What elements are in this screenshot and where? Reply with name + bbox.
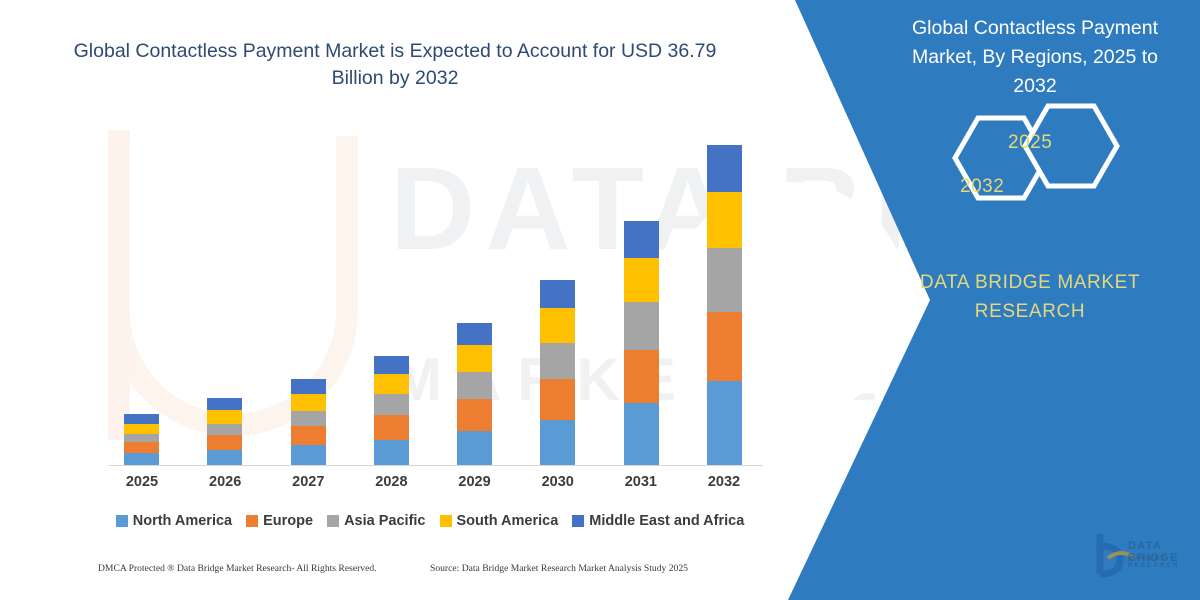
bar-2026 xyxy=(207,398,242,465)
bar-segment xyxy=(707,192,742,248)
x-axis-tick-2026: 2026 xyxy=(195,474,255,490)
footer-dmca-text: DMCA Protected ® Data Bridge Market Rese… xyxy=(98,563,377,574)
bar-segment xyxy=(374,394,409,415)
bar-segment xyxy=(374,440,409,465)
bar-segment xyxy=(624,221,659,258)
bar-segment xyxy=(540,379,575,420)
chart-legend: North AmericaEuropeAsia PacificSouth Ame… xyxy=(100,513,760,529)
bar-2032 xyxy=(707,145,742,465)
bar-segment xyxy=(374,415,409,439)
bar-segment xyxy=(291,394,326,411)
bar-segment xyxy=(540,308,575,343)
bar-segment xyxy=(291,379,326,394)
legend-item[interactable]: South America xyxy=(440,513,559,529)
legend-swatch-icon xyxy=(572,515,584,527)
bar-segment xyxy=(291,426,326,445)
x-axis-tick-2030: 2030 xyxy=(528,474,588,490)
bar-segment xyxy=(457,399,492,430)
legend-item[interactable]: Asia Pacific xyxy=(327,513,425,529)
bar-segment xyxy=(707,248,742,312)
bar-segment xyxy=(707,312,742,381)
legend-swatch-icon xyxy=(246,515,258,527)
bar-segment xyxy=(707,145,742,192)
bar-segment xyxy=(124,414,159,423)
panel-title: Global Contactless Payment Market, By Re… xyxy=(890,14,1180,101)
bar-segment xyxy=(374,374,409,394)
bar-segment xyxy=(540,280,575,308)
brand-panel: Global Contactless Payment Market, By Re… xyxy=(860,0,1200,600)
stacked-bar-series xyxy=(108,130,758,465)
legend-swatch-icon xyxy=(327,515,339,527)
bar-segment xyxy=(124,424,159,434)
hexagon-badges xyxy=(920,96,1160,221)
x-axis-tick-2029: 2029 xyxy=(445,474,505,490)
x-axis-line xyxy=(108,465,763,466)
x-axis-tick-2025: 2025 xyxy=(112,474,172,490)
bar-segment xyxy=(624,350,659,403)
legend-swatch-icon xyxy=(116,515,128,527)
legend-label: Asia Pacific xyxy=(344,513,425,529)
x-axis-labels: 20252026202720282029203020312032 xyxy=(108,474,758,490)
bar-segment xyxy=(457,345,492,371)
brand-name: DATA BRIDGE MARKET RESEARCH xyxy=(880,268,1180,326)
bar-segment xyxy=(540,420,575,465)
hexagon-2025-label: 2025 xyxy=(1008,132,1052,154)
bar-2030 xyxy=(540,280,575,465)
x-axis-tick-2032: 2032 xyxy=(694,474,754,490)
legend-item[interactable]: Middle East and Africa xyxy=(572,513,744,529)
bar-segment xyxy=(291,445,326,465)
bar-segment xyxy=(540,343,575,379)
legend-label: Middle East and Africa xyxy=(589,513,744,529)
legend-label: North America xyxy=(133,513,232,529)
bar-segment xyxy=(624,258,659,302)
bar-segment xyxy=(457,431,492,465)
footer-source-text: Source: Data Bridge Market Research Mark… xyxy=(430,563,688,574)
bar-segment xyxy=(207,450,242,465)
bar-segment xyxy=(707,381,742,465)
bar-2031 xyxy=(624,221,659,465)
chart-region: Global Contactless Payment Market is Exp… xyxy=(0,0,790,600)
bar-2025 xyxy=(124,414,159,465)
bar-segment xyxy=(207,424,242,436)
legend-label: South America xyxy=(457,513,559,529)
bar-segment xyxy=(624,403,659,465)
bar-segment xyxy=(624,302,659,351)
legend-label: Europe xyxy=(263,513,313,529)
bar-segment xyxy=(374,356,409,374)
hexagon-2032-label: 2032 xyxy=(960,176,1004,198)
bar-2029 xyxy=(457,323,492,465)
bar-segment xyxy=(124,442,159,454)
bar-segment xyxy=(124,434,159,442)
legend-swatch-icon xyxy=(440,515,452,527)
bar-segment xyxy=(457,323,492,346)
bar-segment xyxy=(207,398,242,410)
x-axis-tick-2028: 2028 xyxy=(361,474,421,490)
legend-item[interactable]: North America xyxy=(116,513,232,529)
infographic-canvas: DATA BRIDGE MARKET RESEARCH Global Conta… xyxy=(0,0,1200,600)
bar-2028 xyxy=(374,356,409,465)
bar-segment xyxy=(457,372,492,400)
x-axis-tick-2027: 2027 xyxy=(278,474,338,490)
bar-segment xyxy=(124,453,159,465)
bar-segment xyxy=(207,410,242,423)
dbmr-logo-sub: MARKET RESEARCH xyxy=(1128,555,1200,569)
chart-title: Global Contactless Payment Market is Exp… xyxy=(60,38,730,92)
bar-2027 xyxy=(291,379,326,465)
bar-segment xyxy=(291,411,326,426)
bar-segment xyxy=(207,435,242,450)
x-axis-tick-2031: 2031 xyxy=(611,474,671,490)
legend-item[interactable]: Europe xyxy=(246,513,313,529)
